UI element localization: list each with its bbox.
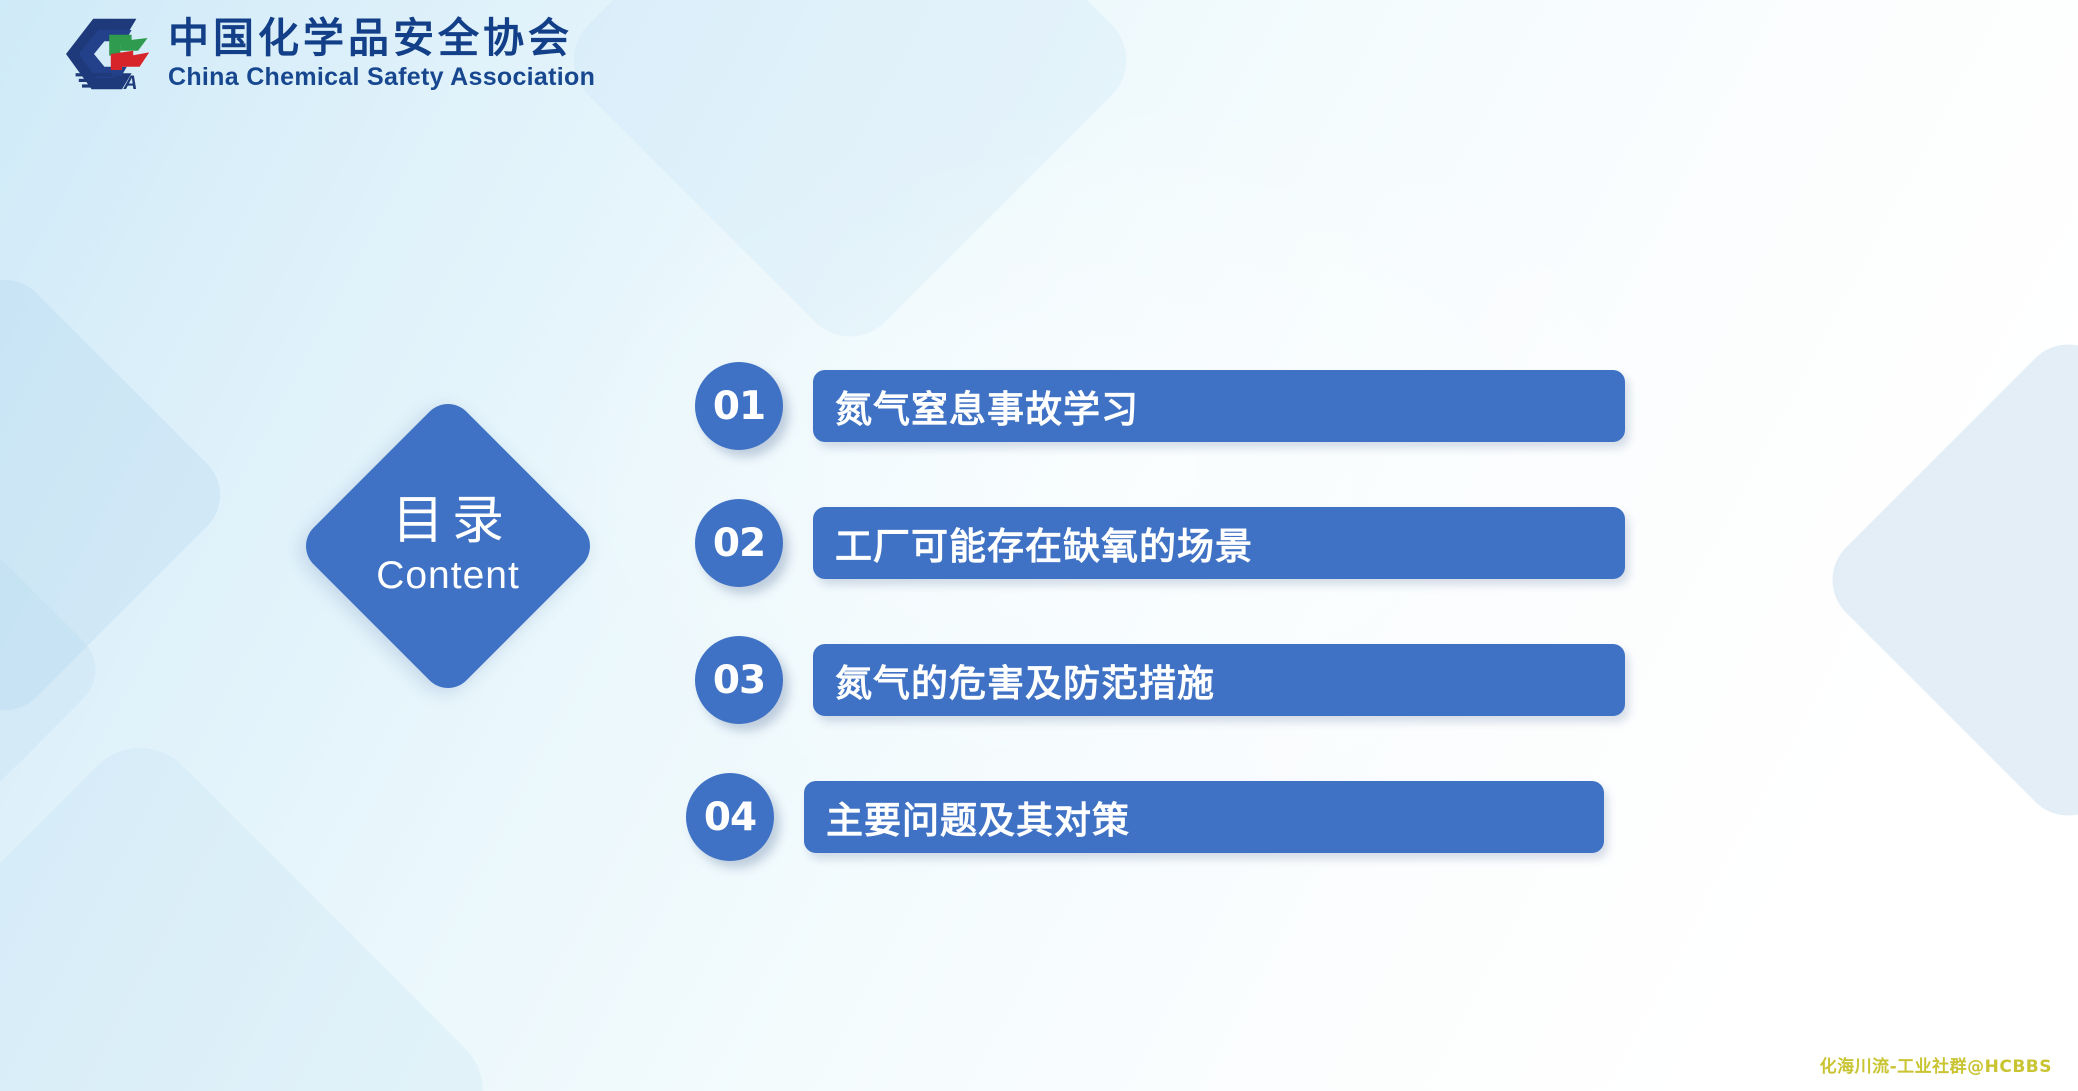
organization-name-en: China Chemical Safety Association	[168, 65, 595, 90]
presentation-slide: SA 中国化学品安全协会 China Chemical Safety Assoc…	[0, 0, 2078, 1091]
background-diamond-top	[553, 0, 1147, 357]
content-diamond-shape	[295, 393, 600, 698]
agenda-bar[interactable]: 主要问题及其对策	[804, 781, 1604, 853]
agenda-item-04[interactable]: 04 主要问题及其对策	[686, 773, 1625, 861]
agenda-item-02[interactable]: 02 工厂可能存在缺氧的场景	[695, 499, 1625, 587]
agenda-item-label: 主要问题及其对策	[804, 790, 1130, 844]
agenda-number-badge: 01	[695, 362, 783, 450]
agenda-item-label: 氮气的危害及防范措施	[813, 653, 1215, 707]
agenda-bar[interactable]: 工厂可能存在缺氧的场景	[813, 507, 1625, 579]
watermark-text: 化海川流-工业社群@HCBBS	[1820, 1052, 2052, 1077]
agenda-item-label: 氮气窒息事故学习	[813, 379, 1139, 433]
csa-hexagon-logo-icon: SA	[58, 14, 154, 94]
agenda-number-badge: 03	[695, 636, 783, 724]
agenda-bar[interactable]: 氮气的危害及防范措施	[813, 644, 1625, 716]
agenda-list: 01 氮气窒息事故学习 02 工厂可能存在缺氧的场景 03 氮气的危害及防范措施…	[695, 362, 1625, 861]
agenda-item-03[interactable]: 03 氮气的危害及防范措施	[695, 636, 1625, 724]
background-diamond-left	[0, 262, 238, 729]
background-diamond-bottom	[0, 723, 508, 1091]
organization-name: 中国化学品安全协会 China Chemical Safety Associat…	[168, 18, 595, 90]
organization-name-cn: 中国化学品安全协会	[168, 18, 595, 59]
organization-logo-block: SA 中国化学品安全协会 China Chemical Safety Assoc…	[58, 14, 595, 94]
agenda-item-01[interactable]: 01 氮气窒息事故学习	[695, 362, 1625, 450]
agenda-bar[interactable]: 氮气窒息事故学习	[813, 370, 1625, 442]
agenda-number-badge: 04	[686, 773, 774, 861]
background-diamond-left-secondary	[0, 458, 112, 882]
agenda-item-label: 工厂可能存在缺氧的场景	[813, 516, 1253, 570]
agenda-number-badge: 02	[695, 499, 783, 587]
svg-text:SA: SA	[111, 73, 138, 94]
background-diamond-right	[1813, 325, 2078, 834]
